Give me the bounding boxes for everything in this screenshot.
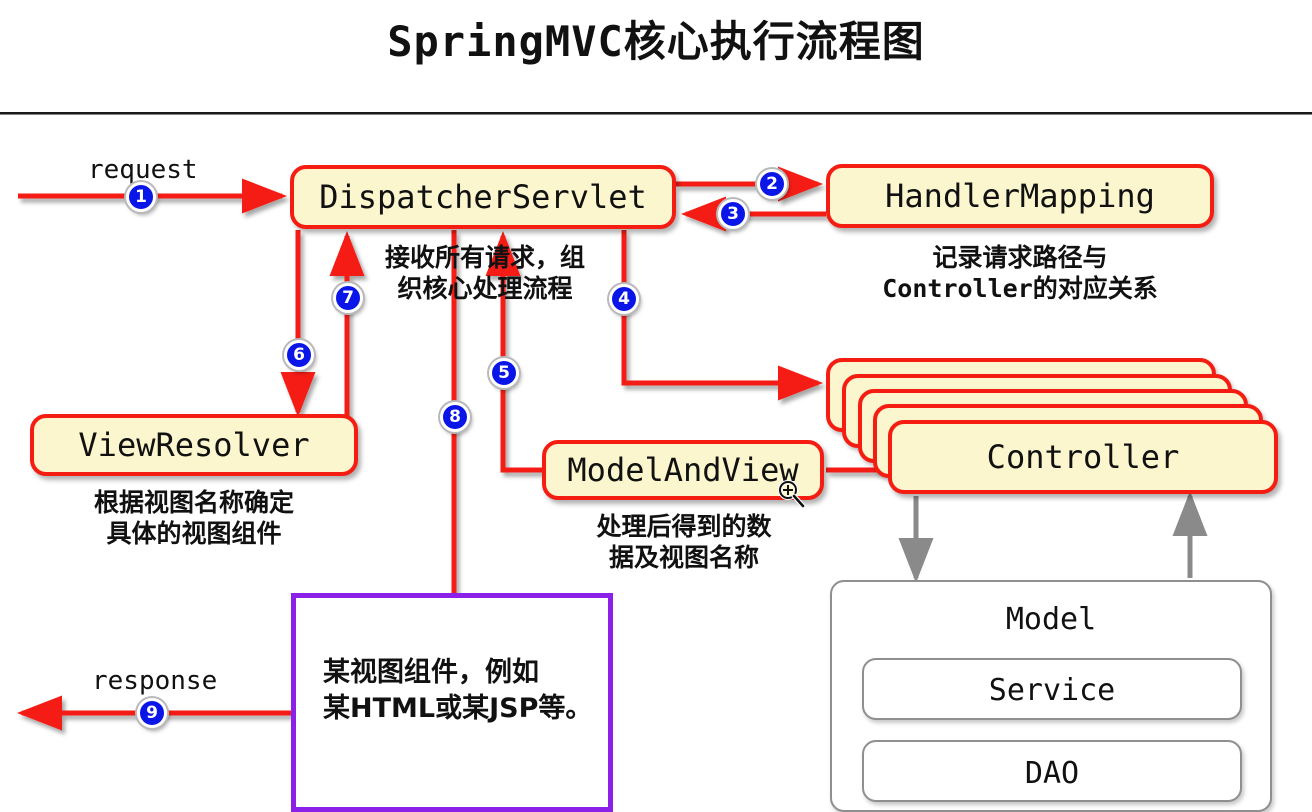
node-service-label: Service <box>862 673 1242 708</box>
diagram-canvas: SpringMVC核心执行流程图 <box>0 0 1312 812</box>
step-badge-6: 6 <box>284 340 314 370</box>
node-view-component-text: 某视图组件，例如 某HTML或某JSP等。 <box>305 655 623 728</box>
step-badge-3: 3 <box>718 199 748 229</box>
step-badge-1: 1 <box>126 182 156 212</box>
step-badge-2: 2 <box>757 169 787 199</box>
node-model-label: Model <box>830 602 1272 637</box>
node-handler-mapping[interactable]: HandlerMapping <box>826 164 1214 228</box>
magnifier-zoom-in-cursor-icon <box>776 478 806 508</box>
node-controller-label: Controller <box>987 438 1180 476</box>
caption-handler-mapping: 记录请求路径与 Controller的对应关系 <box>830 243 1210 304</box>
edge-label-request: request <box>88 155 198 185</box>
edge-label-response: response <box>92 666 217 696</box>
node-dispatcher-servlet-label: DispatcherServlet <box>319 178 647 216</box>
node-model-and-view-label: ModelAndView <box>567 451 798 489</box>
step-badge-5: 5 <box>489 358 519 388</box>
step-badge-4: 4 <box>609 284 639 314</box>
caption-model-and-view: 处理后得到的数 据及视图名称 <box>542 512 826 573</box>
node-dao-label: DAO <box>862 756 1242 791</box>
step-badge-7: 7 <box>333 283 363 313</box>
caption-dispatcher: 接收所有请求，组 织核心处理流程 <box>340 243 630 304</box>
node-dispatcher-servlet[interactable]: DispatcherServlet <box>290 165 676 229</box>
step-badge-8: 8 <box>440 402 470 432</box>
node-view-resolver[interactable]: ViewResolver <box>30 414 358 476</box>
step-badge-9: 9 <box>137 698 167 728</box>
node-view-resolver-label: ViewResolver <box>78 426 309 464</box>
node-controller[interactable]: Controller <box>888 420 1278 494</box>
node-controller-stack[interactable]: Controller <box>826 358 1278 494</box>
node-handler-mapping-label: HandlerMapping <box>885 177 1155 215</box>
caption-view-resolver: 根据视图名称确定 具体的视图组件 <box>34 488 354 549</box>
